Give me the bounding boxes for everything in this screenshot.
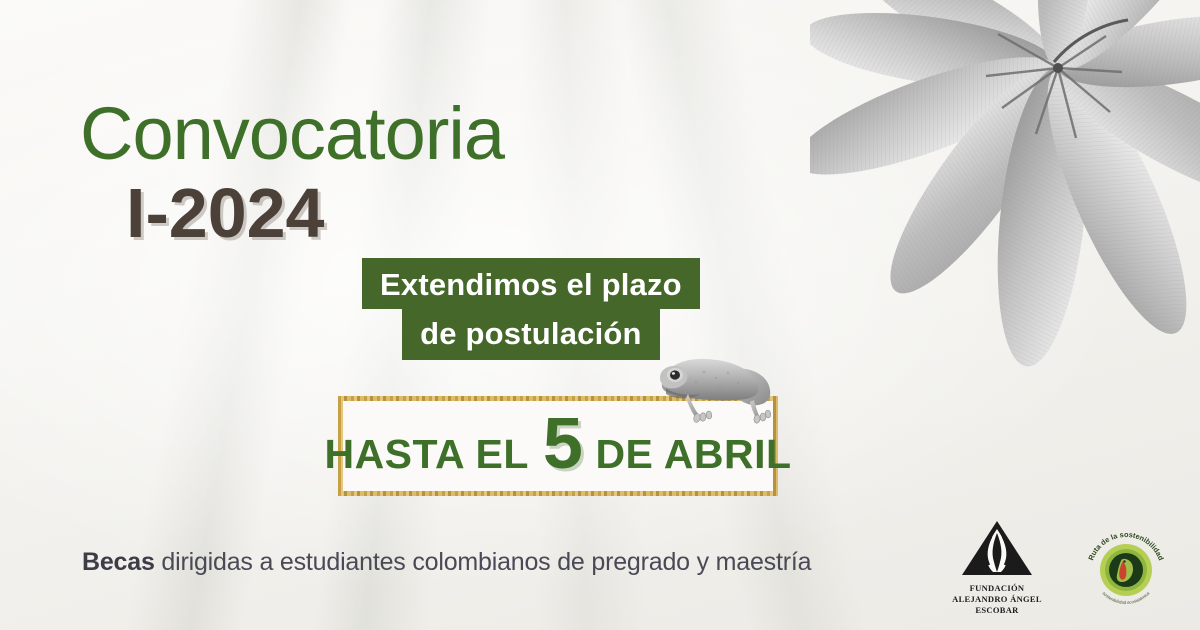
tagline: Becas dirigidas a estudiantes colombiano… [82,548,811,577]
date-prefix: HASTA EL [324,431,528,478]
foundation-name-line2: ALEJANDRO ÁNGEL ESCOBAR [938,594,1056,616]
logo-group: FUNDACIÓN ALEJANDRO ÁNGEL ESCOBAR Ru [938,517,1174,616]
foundation-name-line1: FUNDACIÓN [938,583,1056,594]
foundation-logo-text: FUNDACIÓN ALEJANDRO ÁNGEL ESCOBAR [938,583,1056,616]
date-day-number: 5 [543,414,584,475]
tagline-bold: Becas [82,548,155,576]
deadline-date-box: HASTA EL 5 DE ABRIL [338,396,778,496]
bird-circle-icon: Ruta de la sostenibilidad sostenibilidad… [1078,520,1174,616]
palmate-leaves-icon [810,0,1200,410]
banner-line-1: Extendimos el plazo [362,258,700,309]
headline-block: Convocatoria I-2024 [80,96,504,251]
ruta-sostenibilidad-logo: Ruta de la sostenibilidad sostenibilidad… [1078,520,1174,616]
tagline-rest: dirigidas a estudiantes colombianos de p… [155,548,812,576]
deadline-extension-banner: Extendimos el plazo de postulación [362,258,700,360]
promotional-banner: Convocatoria I-2024 Extendimos el plazo … [0,0,1200,630]
page-title: Convocatoria [80,96,504,171]
foundation-logo: FUNDACIÓN ALEJANDRO ÁNGEL ESCOBAR [938,517,1056,616]
date-suffix: DE ABRIL [595,431,791,478]
page-title-year: I-2024 [126,177,504,251]
deadline-date-text: HASTA EL 5 DE ABRIL [324,414,791,478]
date-box-inner: HASTA EL 5 DE ABRIL [343,401,773,491]
banner-line-2: de postulación [402,309,660,360]
flame-triangle-icon [958,517,1036,579]
